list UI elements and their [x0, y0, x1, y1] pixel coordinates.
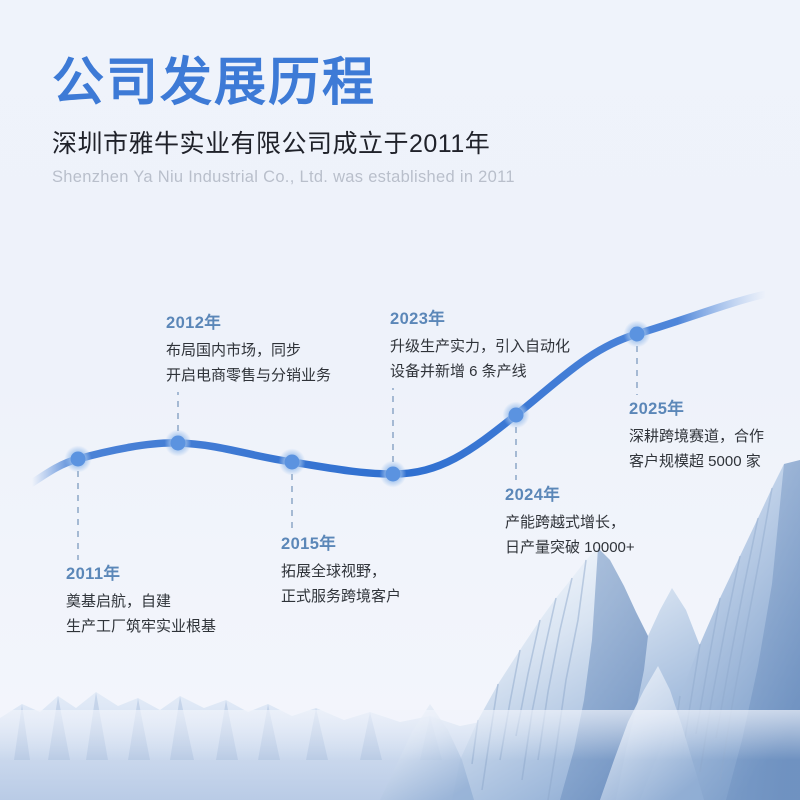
mountain-left-mid-peak	[380, 704, 474, 800]
milestone-2023-year: 2023年	[390, 308, 570, 330]
milestone-2011-description: 奠基启航，自建 生产工厂筑牢实业根基	[66, 590, 216, 639]
node-2023	[380, 461, 407, 488]
mountain-right-shadow	[726, 460, 800, 800]
subtitle-english: Shenzhen Ya Niu Industrial Co., Ltd. was…	[52, 168, 752, 187]
mountain-haze	[0, 710, 800, 760]
milestone-2025-description: 深耕跨境赛道，合作 客户规模超 5000 家	[629, 425, 764, 474]
node-2012	[165, 430, 192, 457]
milestone-2024-year: 2024年	[505, 484, 635, 506]
node-2025	[624, 321, 651, 348]
milestone-2015[interactable]: 2015年 拓展全球视野， 正式服务跨境客户	[281, 533, 401, 609]
mountain-right-massif	[640, 460, 800, 800]
mountain-far-ridge	[0, 692, 800, 800]
mountain-right-ridge-lines	[672, 488, 772, 780]
milestone-2012[interactable]: 2012年 布局国内市场，同步 开启电商零售与分销业务	[166, 312, 331, 388]
milestone-2012-description: 布局国内市场，同步 开启电商零售与分销业务	[166, 339, 331, 388]
milestone-2015-year: 2015年	[281, 533, 401, 555]
mountain-central-shadow	[560, 548, 648, 800]
node-2011	[65, 446, 92, 473]
mountain-far-ridge-shading	[14, 692, 442, 760]
page-title: 公司发展历程	[52, 55, 752, 111]
milestone-2023-description: 升级生产实力，引入自动化 设备并新增 6 条产线	[390, 335, 570, 384]
infographic-page: 公司发展历程 深圳市雅牛实业有限公司成立于2011年 Shenzhen Ya N…	[0, 0, 800, 800]
milestone-2024-description: 产能跨越式增长， 日产量突破 10000+	[505, 511, 635, 560]
subtitle-chinese: 深圳市雅牛实业有限公司成立于2011年	[52, 129, 752, 159]
page-header: 公司发展历程 深圳市雅牛实业有限公司成立于2011年 Shenzhen Ya N…	[52, 55, 752, 187]
mountain-mid-peak	[600, 666, 704, 800]
node-2015	[279, 449, 306, 476]
mountain-ridge-lines	[472, 560, 586, 800]
milestone-2025[interactable]: 2025年 深耕跨境赛道，合作 客户规模超 5000 家	[629, 398, 764, 474]
milestone-2012-year: 2012年	[166, 312, 331, 334]
mountain-central-peak	[452, 548, 762, 800]
milestone-2015-description: 拓展全球视野， 正式服务跨境客户	[281, 560, 401, 609]
milestone-2011[interactable]: 2011年 奠基启航，自建 生产工厂筑牢实业根基	[66, 563, 216, 639]
node-2024	[503, 402, 530, 429]
milestone-2011-year: 2011年	[66, 563, 216, 585]
milestone-2023[interactable]: 2023年 升级生产实力，引入自动化 设备并新增 6 条产线	[390, 308, 570, 384]
milestone-2024[interactable]: 2024年 产能跨越式增长， 日产量突破 10000+	[505, 484, 635, 560]
milestone-2025-year: 2025年	[629, 398, 764, 420]
